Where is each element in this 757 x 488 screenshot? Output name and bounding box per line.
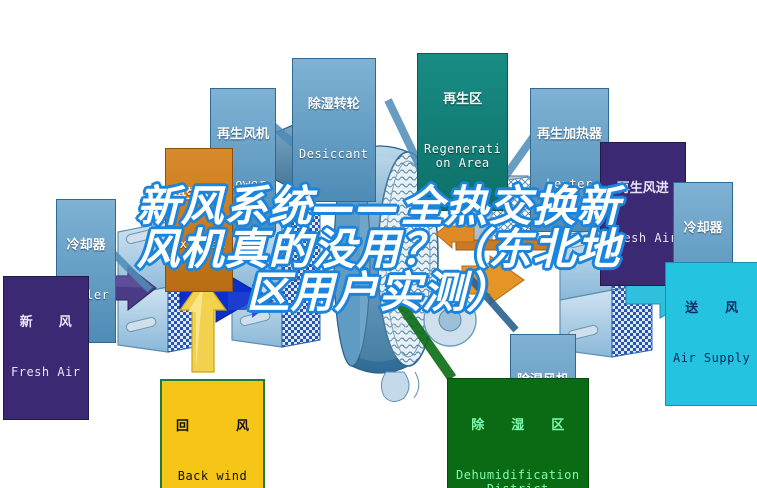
label-desiccant-en: Desiccant xyxy=(299,148,369,161)
label-regen-blower-cn: 再生风机 xyxy=(217,128,269,143)
label-regen-area-cn: 再生区 xyxy=(424,93,501,108)
label-dehum-district-en: Dehumidification District xyxy=(456,469,580,488)
label-air-supply-en: Air Supply xyxy=(673,352,750,365)
headline-overlay: 新风系统——全热交换新 风机真的没用？（东北地 区用户实测） xyxy=(0,186,757,315)
label-fresh-air-cn: 新 风 xyxy=(11,316,81,331)
diagram-canvas: xfzs xyxy=(0,0,757,488)
label-regen-area-en: Regenerati on Area xyxy=(424,143,501,170)
label-regen-heater-cn: 再生加热器 xyxy=(537,128,602,143)
label-dehum-district[interactable]: 除 湿 区 Dehumidification District xyxy=(447,378,589,488)
headline-line-2: 风机真的没用？（东北地 xyxy=(0,229,757,272)
headline-line-3: 区用户实测） xyxy=(0,272,757,315)
label-back-wind-en: Back wind xyxy=(169,470,256,483)
label-back-wind-cn: 回 风 xyxy=(169,420,256,435)
label-desiccant[interactable]: 除湿转轮 Desiccant xyxy=(292,58,376,202)
label-fresh-air-en: Fresh Air xyxy=(11,366,81,379)
label-dehum-district-cn: 除 湿 区 xyxy=(456,419,580,434)
headline-line-1: 新风系统——全热交换新 xyxy=(0,186,757,229)
drum-duct xyxy=(381,372,418,402)
label-back-wind[interactable]: 回 风 Back wind xyxy=(160,379,265,488)
label-desiccant-cn: 除湿转轮 xyxy=(299,98,369,113)
